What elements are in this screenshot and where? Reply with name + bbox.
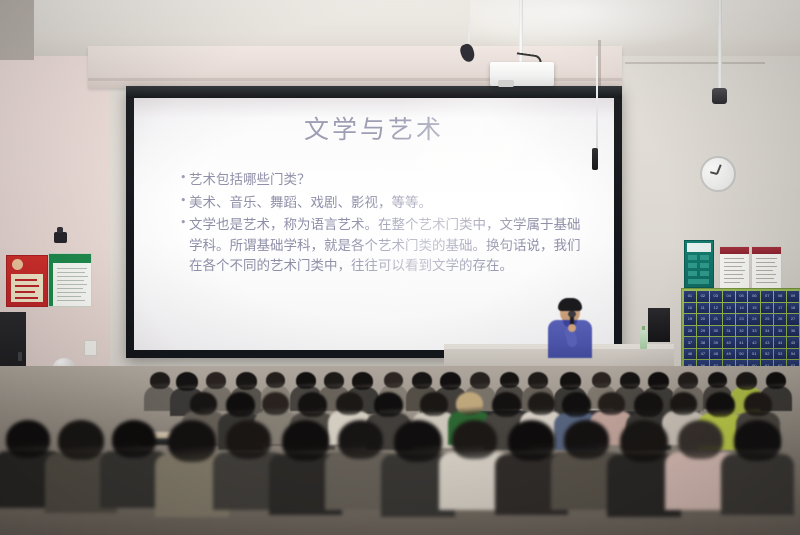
audience-head: [678, 420, 723, 459]
audience-head: [500, 372, 519, 388]
wall-clock: [700, 156, 736, 192]
audience-person: [282, 420, 329, 506]
audience-person: [58, 420, 104, 504]
audience-head: [412, 372, 432, 389]
phone-pocket: 16: [761, 303, 773, 314]
audience-head: [648, 372, 669, 390]
green-notice-poster: [48, 253, 92, 307]
wall-camera: [54, 232, 67, 243]
audience-head: [338, 420, 383, 459]
audience-head: [492, 392, 521, 417]
audience-person: [112, 420, 156, 500]
phone-pocket: 34: [761, 326, 773, 337]
phone-pocket: 22: [723, 314, 735, 325]
audience-person: [394, 420, 442, 508]
phone-pocket: 47: [697, 349, 709, 360]
phone-pocket: 45: [787, 337, 799, 348]
audience-head: [236, 372, 257, 390]
phone-pocket: 39: [710, 337, 722, 348]
right-wall-speaker: [648, 308, 670, 342]
audience-head: [598, 392, 625, 415]
phone-pocket: 09: [787, 291, 799, 302]
phone-pocket: 37: [684, 337, 696, 348]
audience-head: [226, 392, 255, 417]
audience-person: [6, 420, 50, 500]
phone-pocket: 18: [787, 303, 799, 314]
wall-panel-seam: [625, 62, 765, 64]
audience-head: [420, 392, 448, 416]
audience-head: [452, 420, 497, 459]
phone-pocket: 19: [684, 314, 696, 325]
phone-pocket: 21: [710, 314, 722, 325]
audience-head: [592, 372, 611, 388]
phone-pocket: 01: [684, 291, 696, 302]
phone-pocket-board: 0102030405060708091011121314151617181920…: [681, 288, 800, 374]
audience-head: [262, 392, 289, 415]
audience-head: [634, 392, 663, 417]
slide-title: 文学与艺术: [134, 110, 614, 146]
audience-head: [470, 372, 490, 389]
poster-emblem-icon: [12, 259, 23, 270]
audience-head: [678, 372, 698, 389]
phone-pocket: 06: [748, 291, 760, 302]
audience-head: [766, 372, 786, 389]
phone-pocket: 31: [723, 326, 735, 337]
phone-pocket: 51: [748, 349, 760, 360]
audience-head: [352, 372, 373, 390]
audience-head: [456, 392, 483, 415]
audience-person: [338, 420, 383, 502]
audience-head: [744, 392, 772, 416]
phone-pocket: 30: [710, 326, 722, 337]
audience-head: [226, 420, 271, 459]
audience-head: [6, 420, 50, 458]
audience-head: [708, 372, 727, 388]
audience-head: [620, 372, 640, 389]
phone-pocket: 33: [748, 326, 760, 337]
audience-person: [678, 420, 723, 502]
teal-info-sign: [684, 240, 714, 288]
audience-person: [150, 372, 170, 408]
pull-cord-handle-icon[interactable]: [592, 148, 598, 170]
phone-pocket: 50: [736, 349, 748, 360]
audience-head: [190, 392, 217, 415]
audience-head: [560, 372, 581, 390]
presenter-hand: [568, 324, 576, 332]
phone-pocket: 52: [761, 349, 773, 360]
phone-pocket: 41: [736, 337, 748, 348]
presenter-hair: [558, 298, 582, 311]
phone-pocket: 07: [761, 291, 773, 302]
audience-person: [452, 420, 497, 502]
ceiling-left-shadow: [0, 0, 34, 60]
phone-pocket: 11: [697, 303, 709, 314]
phone-pocket: 48: [710, 349, 722, 360]
screen-pull-cord[interactable]: [596, 56, 598, 152]
light-switch[interactable]: [84, 340, 97, 356]
audience-head: [296, 372, 316, 389]
bullet-dot-icon: •: [180, 215, 189, 232]
phone-pocket: 08: [774, 291, 786, 302]
phone-pocket: 23: [736, 314, 748, 325]
phone-pocket: 49: [723, 349, 735, 360]
bullet-dot-icon: •: [180, 193, 189, 210]
phone-pocket: 10: [684, 303, 696, 314]
audience-head: [508, 420, 555, 461]
phone-pocket-grid: 0102030405060708091011121314151617181920…: [684, 291, 799, 371]
audience-head: [394, 420, 442, 462]
audience-head: [336, 392, 363, 415]
phone-pocket: 43: [761, 337, 773, 348]
screen-top-band: [126, 86, 622, 98]
notice-header-band: [752, 247, 781, 254]
presenter: [540, 300, 600, 358]
slide-bullet-text: 艺术包括哪些门类？: [189, 170, 588, 191]
audience-head: [298, 392, 327, 417]
audience-head: [528, 372, 548, 389]
phone-pocket: 15: [748, 303, 760, 314]
audience-head: [734, 420, 781, 461]
phone-pocket: 26: [774, 314, 786, 325]
slide-bullet: •美术、音乐、舞蹈、戏剧、影视，等等。: [180, 193, 588, 214]
audience-person: [508, 420, 555, 506]
audience-person: [226, 420, 271, 502]
audience-head: [564, 420, 609, 459]
ceiling-camera: [712, 88, 727, 104]
audience-person: [168, 420, 216, 508]
audience-head: [150, 372, 170, 389]
audience-head: [176, 372, 198, 391]
audience-head: [620, 420, 668, 462]
audience-head: [112, 420, 156, 458]
microphone-head-icon: [568, 311, 576, 317]
audience-head: [168, 420, 216, 462]
phone-pocket: 54: [787, 349, 799, 360]
poster-side-band: [49, 263, 53, 306]
phone-pocket: 36: [787, 326, 799, 337]
audience-head: [58, 420, 104, 460]
slide-bullet-list: •艺术包括哪些门类？•美术、音乐、舞蹈、戏剧、影视，等等。•文学也是艺术，称为语…: [180, 170, 588, 279]
audience-torso: [721, 454, 794, 516]
cabinet-handle[interactable]: [18, 352, 22, 361]
lecture-hall-photo: 文学与艺术 •艺术包括哪些门类？•美术、音乐、舞蹈、戏剧、影视，等等。•文学也是…: [0, 0, 800, 535]
audience-head: [440, 372, 461, 390]
sign-header: [687, 243, 711, 252]
audience-head: [206, 372, 226, 389]
audience-head: [670, 392, 697, 415]
ceiling-camera-pole: [718, 0, 722, 92]
audience-head: [384, 372, 403, 388]
phone-pocket: 40: [723, 337, 735, 348]
audience-person: [734, 420, 781, 506]
phone-pocket: 17: [774, 303, 786, 314]
phone-pocket: 29: [697, 326, 709, 337]
poster-text-card: [11, 274, 43, 302]
wall-notice-2: [751, 246, 782, 290]
phone-pocket: 27: [787, 314, 799, 325]
audience-head: [706, 392, 735, 417]
phone-pocket: 42: [748, 337, 760, 348]
wall-notice-1: [719, 246, 750, 290]
phone-pocket: 44: [774, 337, 786, 348]
audience-head: [324, 372, 344, 389]
phone-pocket: 20: [697, 314, 709, 325]
bullet-dot-icon: •: [180, 170, 189, 187]
projector-lens-icon: [498, 80, 514, 87]
notice-header-band: [720, 247, 749, 254]
phone-pocket: 24: [748, 314, 760, 325]
phone-pocket: 02: [697, 291, 709, 302]
phone-pocket: 28: [684, 326, 696, 337]
phone-pocket: 05: [736, 291, 748, 302]
audience-head: [736, 372, 757, 390]
slide-bullet: •文学也是艺术，称为语言艺术。在整个艺术门类中，文学属于基础学科。所谓基础学科，…: [180, 215, 588, 277]
red-notice-poster: [6, 255, 48, 307]
phone-pocket: 35: [774, 326, 786, 337]
phone-pocket: 53: [774, 349, 786, 360]
phone-pocket: 03: [710, 291, 722, 302]
slide-bullet-text: 美术、音乐、舞蹈、戏剧、影视，等等。: [189, 193, 588, 214]
audience-person: [564, 420, 609, 502]
phone-pocket: 14: [736, 303, 748, 314]
slide-bullet-text: 文学也是艺术，称为语言艺术。在整个艺术门类中，文学属于基础学科。所谓基础学科，就…: [189, 215, 588, 277]
audience-head: [374, 392, 403, 417]
phone-pocket: 38: [697, 337, 709, 348]
water-bottle: [640, 330, 647, 349]
audience-head: [562, 392, 591, 417]
phone-pocket: 04: [723, 291, 735, 302]
audience-head: [528, 392, 555, 415]
phone-pocket: 25: [761, 314, 773, 325]
phone-pocket: 46: [684, 349, 696, 360]
phone-pocket: 12: [710, 303, 722, 314]
audience-head: [282, 420, 329, 461]
phone-pocket: 32: [736, 326, 748, 337]
audience-head: [266, 372, 285, 388]
phone-pocket: 13: [723, 303, 735, 314]
slide-bullet: •艺术包括哪些门类？: [180, 170, 588, 191]
audience-person: [620, 420, 668, 508]
poster-header-band: [49, 254, 91, 263]
